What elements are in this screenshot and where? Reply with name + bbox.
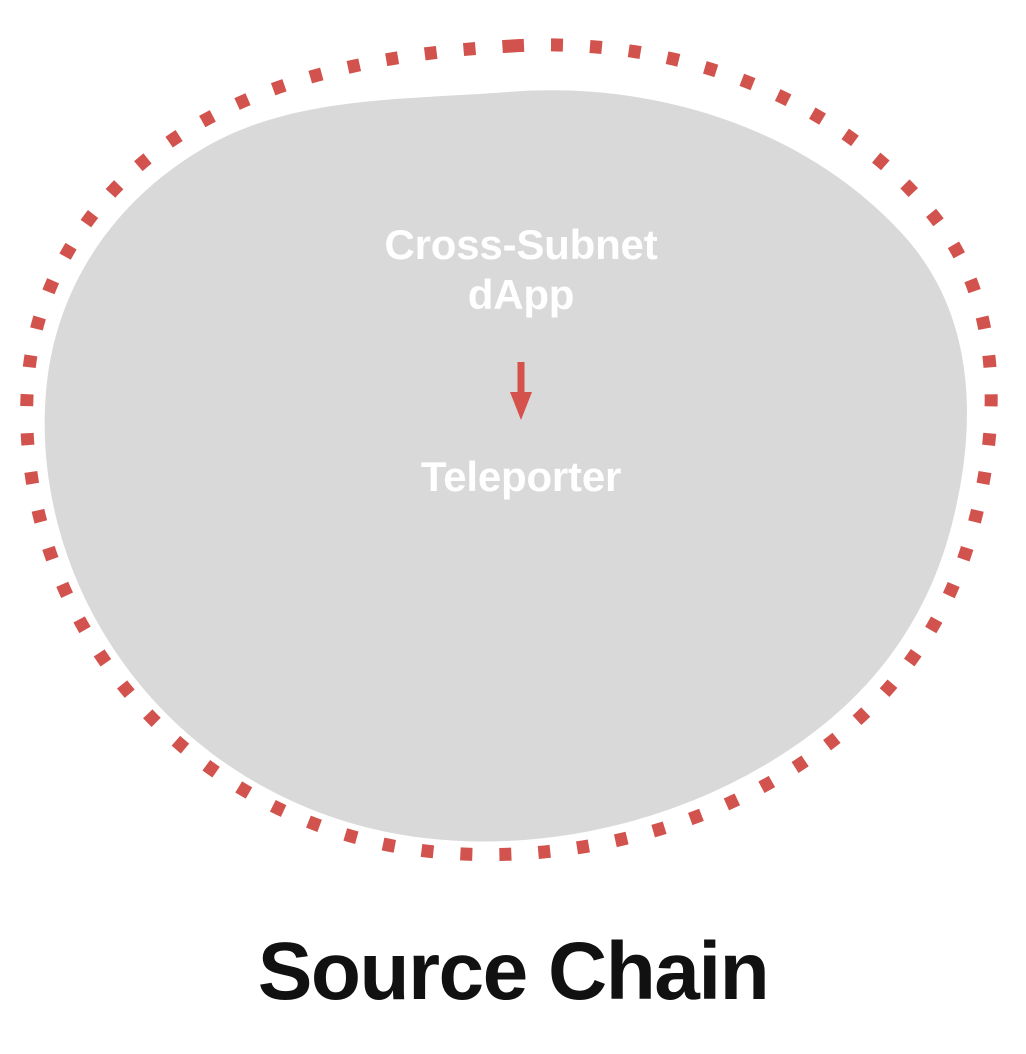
arrow-head-icon [510, 392, 532, 420]
node-cross-subnet-dapp[interactable]: Cross-SubnetdApp [326, 175, 716, 365]
node-label-line-2: dApp [468, 271, 575, 318]
arrow-dapp-to-teleporter [488, 362, 554, 422]
node-cross-subnet-dapp-label: Cross-SubnetdApp [326, 220, 716, 319]
node-teleporter-label: Teleporter [326, 452, 716, 502]
diagram-canvas: Cross-SubnetdApp Teleporter Source Chain [0, 0, 1026, 1054]
diagram-caption: Source Chain [0, 925, 1026, 1019]
node-teleporter[interactable]: Teleporter [326, 418, 716, 536]
node-label-line-1: Cross-Subnet [385, 221, 658, 268]
